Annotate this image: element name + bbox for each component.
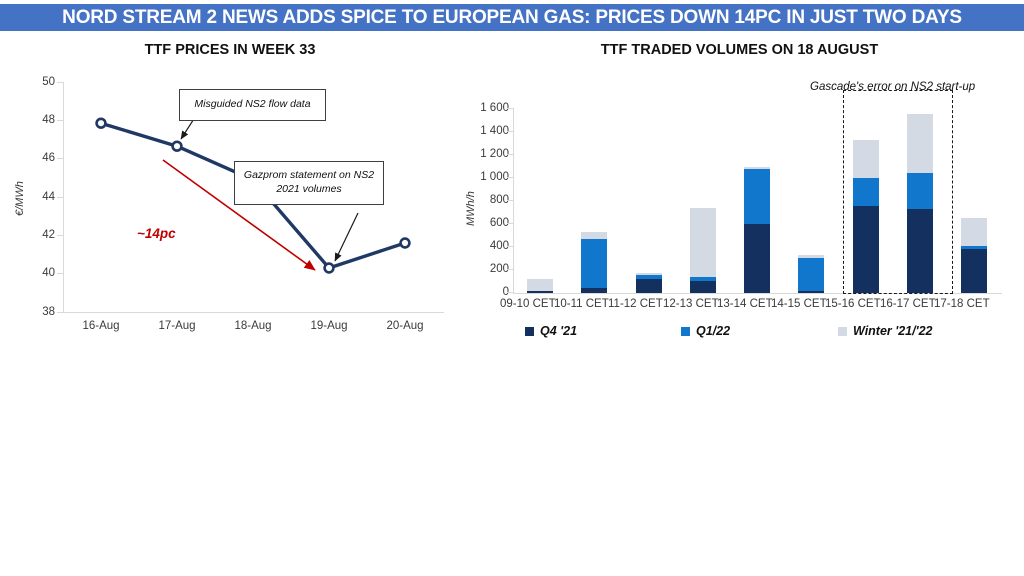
right-y-tick-0: 0: [463, 286, 509, 298]
bar-seg-q4-21: [581, 288, 607, 293]
left-y-tick-40: 40: [20, 267, 55, 279]
bar-seg-winter-21-22: [907, 114, 933, 173]
decline-percent-label: ~14pc: [137, 226, 176, 241]
left-x-tick-20-aug: 20-Aug: [366, 320, 444, 332]
chart-ttf-traded-volumes: TTF TRADED VOLUMES ON 18 AUGUST Gascade'…: [455, 36, 1024, 361]
price-point-19-aug: [325, 264, 334, 273]
right-y-tick-800: 800: [463, 194, 509, 206]
bar-seg-winter-21-22: [581, 232, 607, 240]
right-y-tick-1400: 1 400: [463, 125, 509, 137]
right-x-tick-10-11: 10-11 CET: [554, 298, 608, 310]
left-x-axis-line: [63, 312, 444, 313]
legend-swatch-winter-21-22: [838, 327, 847, 336]
right-x-tick-09-10: 09-10 CET: [500, 298, 554, 310]
callout-gazprom-statement: Gazprom statement on NS2 2021 volumes: [234, 161, 384, 205]
right-y-tick-1600: 1 600: [463, 102, 509, 114]
left-y-tick-44: 44: [20, 191, 55, 203]
right-y-tick-1000: 1 000: [463, 171, 509, 183]
left-y-tick-48: 48: [20, 114, 55, 126]
legend-item-q1-22[interactable]: Q1/22: [681, 324, 730, 338]
legend-label-winter-21-22: Winter '21/'22: [853, 324, 932, 338]
price-point-17-aug: [173, 142, 182, 151]
bar-09-10-cet[interactable]: [527, 278, 553, 293]
bar-seg-q1-22: [798, 258, 824, 291]
price-point-16-aug: [97, 119, 106, 128]
bar-seg-q1-22: [907, 173, 933, 209]
legend-item-winter-21-22[interactable]: Winter '21/'22: [838, 324, 932, 338]
bar-10-11-cet[interactable]: [581, 232, 607, 293]
left-y-tick-38: 38: [20, 306, 55, 318]
bar-seg-q1-22: [853, 178, 879, 206]
legend-item-q4-21[interactable]: Q4 '21: [525, 324, 577, 338]
left-x-tick-16-aug: 16-Aug: [62, 320, 140, 332]
right-chart-legend: Q4 '21 Q1/22 Winter '21/'22: [513, 324, 1001, 344]
right-y-tick-200: 200: [463, 263, 509, 275]
bar-seg-q4-21: [527, 291, 553, 293]
legend-label-q4-21: Q4 '21: [540, 324, 577, 338]
right-x-tick-12-13: 12-13 CET: [663, 298, 717, 310]
right-y-tick-1200: 1 200: [463, 148, 509, 160]
bar-seg-q1-22: [636, 275, 662, 279]
right-x-tick-15-16: 15-16 CET: [825, 298, 879, 310]
bar-12-13-cet[interactable]: [690, 208, 716, 294]
right-x-tick-11-12: 11-12 CET: [608, 298, 662, 310]
page-title: NORD STREAM 2 NEWS ADDS SPICE TO EUROPEA…: [62, 7, 962, 29]
left-y-tick-46: 46: [20, 152, 55, 164]
header-banner: NORD STREAM 2 NEWS ADDS SPICE TO EUROPEA…: [0, 4, 1024, 31]
left-chart-title: TTF PRICES IN WEEK 33: [0, 42, 460, 58]
legend-swatch-q1-22: [681, 327, 690, 336]
bar-seg-q4-21: [853, 206, 879, 293]
chart-ttf-prices: TTF PRICES IN WEEK 33 €/MWh 50 48 46 44 …: [0, 36, 460, 336]
bar-seg-winter-21-22: [961, 218, 987, 246]
right-y-tick-600: 600: [463, 217, 509, 229]
bar-seg-q1-22: [690, 277, 716, 281]
legend-swatch-q4-21: [525, 327, 534, 336]
bar-seg-winter-21-22: [798, 255, 824, 258]
bar-16-17-cet[interactable]: [907, 114, 933, 293]
bar-seg-q4-21: [744, 224, 770, 293]
bar-seg-q1-22: [744, 169, 770, 223]
bar-seg-q1-22: [961, 246, 987, 249]
bar-seg-q4-21: [798, 291, 824, 293]
bar-seg-winter-21-22: [853, 140, 879, 178]
bar-seg-q4-21: [961, 249, 987, 293]
legend-label-q1-22: Q1/22: [696, 324, 730, 338]
bar-seg-q4-21: [636, 279, 662, 294]
price-point-20-aug: [401, 239, 410, 248]
right-x-tick-14-15: 14-15 CET: [771, 298, 825, 310]
right-plot-area: [513, 108, 1001, 293]
bar-seg-q4-21: [690, 281, 716, 293]
bar-13-14-cet[interactable]: [744, 167, 770, 293]
bar-17-18-cet[interactable]: [961, 218, 987, 293]
right-x-tick-13-14: 13-14 CET: [717, 298, 771, 310]
bar-seg-q1-22: [581, 239, 607, 288]
right-x-tick-16-17: 16-17 CET: [880, 298, 934, 310]
left-x-tick-18-aug: 18-Aug: [214, 320, 292, 332]
right-x-tick-17-18: 17-18 CET: [934, 298, 988, 310]
callout-2-leader: [335, 213, 358, 261]
bar-15-16-cet[interactable]: [853, 140, 879, 293]
right-chart-title: TTF TRADED VOLUMES ON 18 AUGUST: [455, 42, 1024, 58]
bar-seg-winter-21-22: [527, 279, 553, 292]
callout-misguided-ns2-flow-data: Misguided NS2 flow data: [179, 89, 326, 121]
gascade-error-note: Gascade's error on NS2 start-up: [810, 81, 975, 93]
left-y-tick-42: 42: [20, 229, 55, 241]
right-y-tick-400: 400: [463, 240, 509, 252]
bar-14-15-cet[interactable]: [798, 255, 824, 293]
bar-seg-winter-21-22: [690, 208, 716, 278]
bar-seg-winter-21-22: [744, 167, 770, 169]
slide-canvas: NORD STREAM 2 NEWS ADDS SPICE TO EUROPEA…: [0, 0, 1024, 576]
bar-seg-winter-21-22: [636, 273, 662, 275]
left-x-tick-17-aug: 17-Aug: [138, 320, 216, 332]
left-x-tick-19-aug: 19-Aug: [290, 320, 368, 332]
right-x-axis-line: [513, 293, 1002, 294]
bar-11-12-cet[interactable]: [636, 273, 662, 293]
bar-seg-q4-21: [907, 209, 933, 293]
left-y-tick-50: 50: [20, 76, 55, 88]
